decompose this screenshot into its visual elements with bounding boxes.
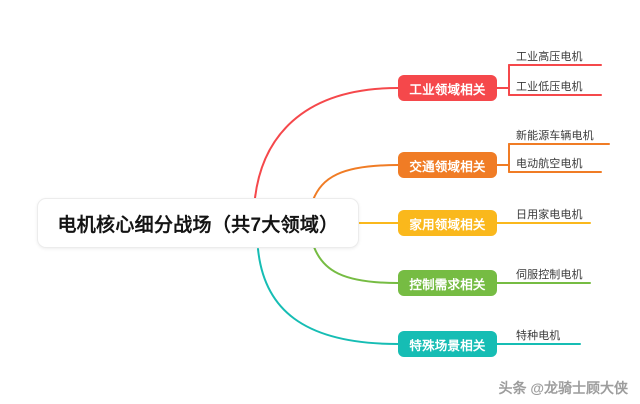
- leaf-node-label: 伺服控制电机: [516, 266, 583, 282]
- connector-root-to-branch-1: [313, 165, 398, 200]
- branch-node-label: 交通领域相关: [409, 156, 485, 175]
- leaf-node-label: 工业低压电机: [516, 78, 583, 94]
- connector-root-to-branch-4: [258, 249, 398, 344]
- leaf-node-label: 新能源车辆电机: [516, 127, 594, 143]
- branch-node-control[interactable]: 控制需求相关: [398, 270, 497, 296]
- leaf-node-special-purpose[interactable]: 特种电机: [516, 324, 560, 346]
- leaf-node-label: 特种电机: [516, 327, 560, 343]
- branch-node-industrial[interactable]: 工业领域相关: [398, 75, 497, 101]
- leaf-node-servo-control[interactable]: 伺服控制电机: [516, 263, 583, 285]
- leaf-node-industrial-low-voltage[interactable]: 工业低压电机: [516, 75, 583, 97]
- connector-root-to-branch-3: [314, 247, 398, 283]
- branch-node-label: 家用领域相关: [409, 214, 485, 233]
- watermark: 头条 @龙骑士顾大侠: [498, 378, 628, 398]
- leaf-node-home-appliance[interactable]: 日用家电电机: [516, 203, 583, 225]
- leaf-node-industrial-high-voltage[interactable]: 工业高压电机: [516, 45, 583, 67]
- root-node[interactable]: 电机核心细分战场（共7大领域）: [37, 198, 359, 248]
- branch-node-transport[interactable]: 交通领域相关: [398, 152, 497, 178]
- leaf-node-label: 电动航空电机: [516, 155, 583, 171]
- leaf-node-new-energy-vehicle[interactable]: 新能源车辆电机: [516, 124, 594, 146]
- branch-node-special[interactable]: 特殊场景相关: [398, 331, 497, 357]
- leaf-node-electric-aviation[interactable]: 电动航空电机: [516, 152, 583, 174]
- leaf-node-label: 日用家电电机: [516, 206, 583, 222]
- connector-root-to-branch-0: [255, 88, 398, 198]
- branch-node-label: 特殊场景相关: [409, 335, 485, 354]
- branch-node-label: 控制需求相关: [409, 274, 485, 293]
- branch-node-label: 工业领域相关: [409, 79, 485, 98]
- branch-node-household[interactable]: 家用领域相关: [398, 210, 497, 236]
- leaf-node-label: 工业高压电机: [516, 48, 583, 64]
- mindmap-canvas: 电机核心细分战场（共7大领域） 工业领域相关 交通领域相关 家用领域相关 控制需…: [0, 0, 640, 404]
- root-node-label: 电机核心细分战场（共7大领域）: [57, 210, 338, 237]
